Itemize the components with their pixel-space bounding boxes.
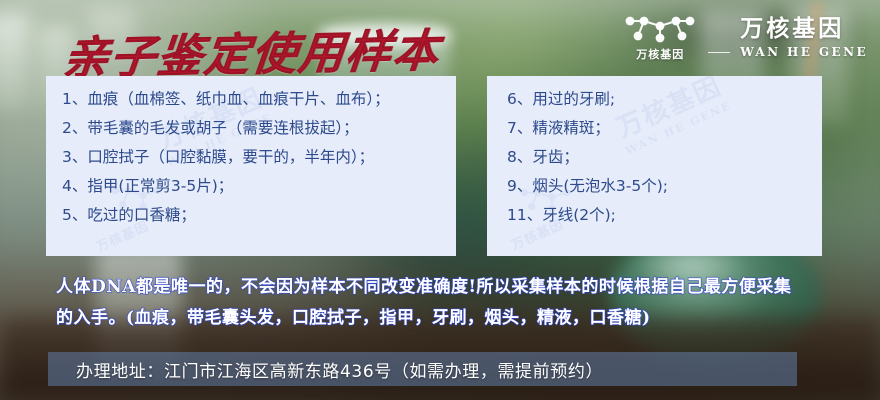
- logo-mark: 万核基因: [622, 14, 698, 62]
- list-item: 8、牙齿；: [507, 150, 822, 166]
- logo-name-en: WAN HE GENE: [740, 46, 868, 58]
- list-item: 5、吃过的口香糖；: [62, 208, 456, 224]
- logo-wordmark: 万核基因 WAN HE GENE: [740, 18, 868, 58]
- logo-mark-caption: 万核基因: [636, 46, 684, 62]
- list-item: 3、口腔拭子（口腔黏膜，要干的，半年内）；: [62, 150, 456, 166]
- list-item: 6、用过的牙刷;: [507, 92, 822, 108]
- poster-root: 亲子鉴定使用样本: [0, 0, 880, 400]
- description-line-1: 人体DNA都是唯一的，不会因为样本不同改变准确度!所以采集样本的时候根据自己最方…: [56, 277, 791, 297]
- address-text: 办理地址：江门市江海区高新东路436号（如需办理，需提前预约）: [76, 357, 603, 382]
- sample-list-panel-left: 万核基因 WAN HE GENE 万核基因 1、血痕（血棉签、纸巾血、血痕干片、…: [46, 76, 456, 256]
- list-item: 2、带毛囊的毛发或胡子（需要连根拔起）；: [62, 121, 456, 137]
- list-item: 1、血痕（血棉签、纸巾血、血痕干片、血布）；: [62, 92, 456, 108]
- description-paragraph: 人体DNA都是唯一的，不会因为样本不同改变准确度!所以采集样本的时候根据自己最方…: [56, 272, 856, 334]
- list-item: 4、指甲(正常剪3-5片)；: [62, 179, 456, 195]
- address-bar: 办理地址：江门市江海区高新东路436号（如需办理，需提前预约）: [48, 352, 797, 386]
- list-item: 11、牙线(2个);: [507, 208, 822, 224]
- logo-divider: [708, 52, 730, 53]
- list-item: 7、精液精斑；: [507, 121, 822, 137]
- brand-logo: 万核基因 万核基因 WAN HE GENE: [622, 14, 868, 62]
- sample-list-right: 6、用过的牙刷; 7、精液精斑； 8、牙齿； 9、烟头(无泡水3-5个); 11…: [487, 76, 822, 224]
- background-beaker-1: [0, 14, 30, 110]
- description-line-2: 的入手。(血痕，带毛囊头发，口腔拭子，指甲，牙刷，烟头，精液，口香糖): [56, 303, 856, 334]
- logo-name-cn: 万核基因: [740, 18, 844, 41]
- sample-list-panel-right: 万核基因 WAN HE GENE 万核基因 6、用过的牙刷; 7、精液精斑； 8…: [487, 76, 822, 256]
- dna-molecule-icon: [622, 14, 698, 44]
- list-item: 9、烟头(无泡水3-5个);: [507, 179, 822, 195]
- sample-list-left: 1、血痕（血棉签、纸巾血、血痕干片、血布）； 2、带毛囊的毛发或胡子（需要连根拔…: [46, 76, 456, 224]
